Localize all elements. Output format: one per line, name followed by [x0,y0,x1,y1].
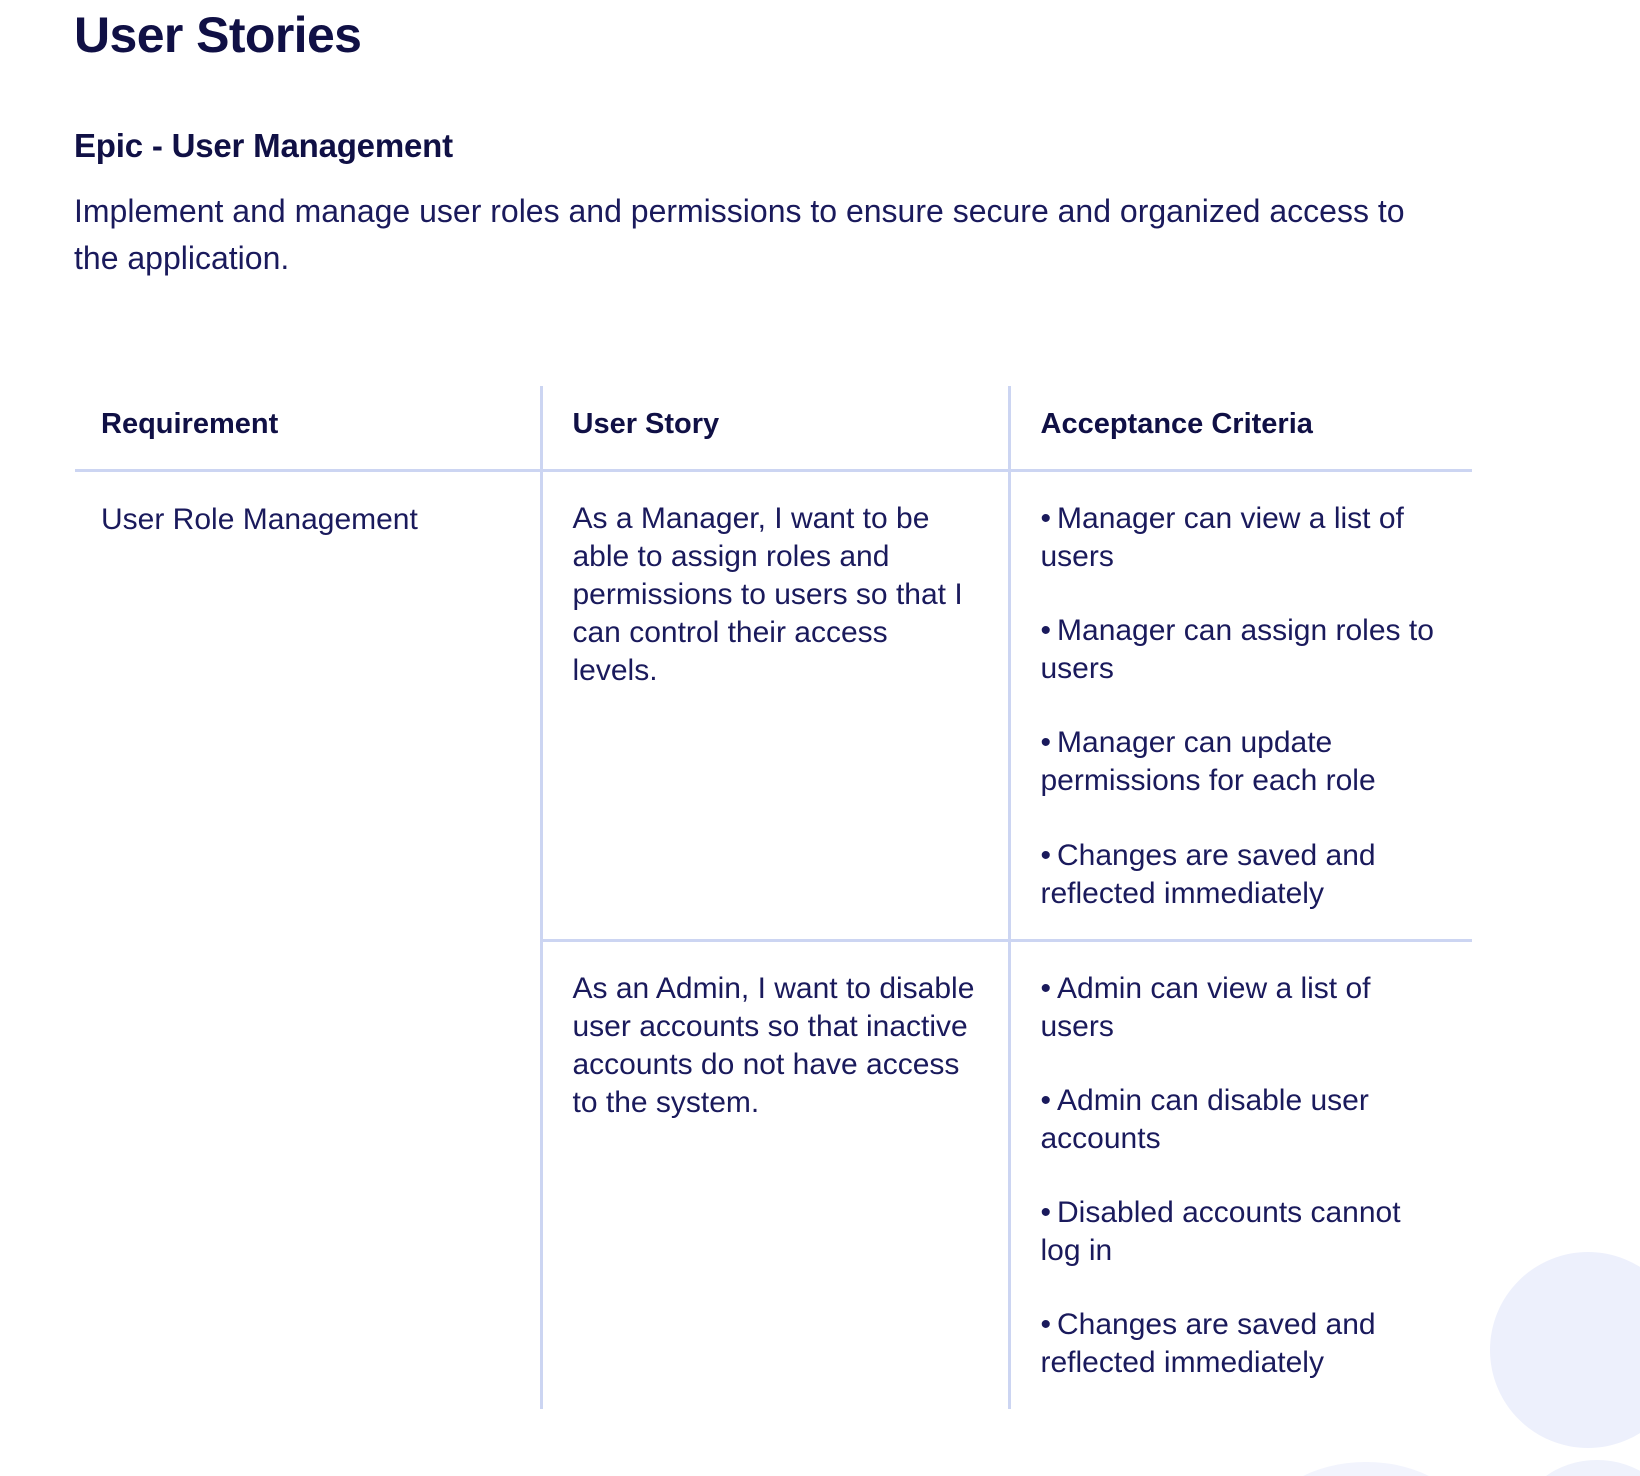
column-header-requirement: Requirement [75,386,541,471]
acceptance-criteria-text: Disabled accounts cannot log in [1041,1196,1401,1267]
column-header-user-story: User Story [541,386,1009,471]
acceptance-criteria-text: Manager can update permissions for each … [1041,726,1376,797]
table-header-row: Requirement User Story Acceptance Criter… [75,386,1472,471]
acceptance-criteria-list: •Admin can view a list of users •Admin c… [1041,970,1443,1383]
bullet-icon: • [1041,1196,1052,1229]
cell-user-story: As a Manager, I want to be able to assig… [541,471,1009,941]
column-header-acceptance-criteria: Acceptance Criteria [1009,386,1472,471]
bullet-icon: • [1041,502,1052,535]
epic-description: Implement and manage user roles and perm… [74,188,1414,282]
acceptance-criteria-text: Admin can view a list of users [1041,972,1371,1043]
page-title: User Stories [74,8,361,63]
acceptance-criteria-item: •Admin can disable user accounts [1041,1082,1443,1158]
acceptance-criteria-item: •Changes are saved and reflected immedia… [1041,1306,1443,1382]
acceptance-criteria-text: Manager can view a list of users [1041,502,1404,573]
cell-acceptance-criteria: •Admin can view a list of users •Admin c… [1009,940,1472,1408]
user-story-text: As an Admin, I want to disable user acco… [573,970,978,1122]
bullet-icon: • [1041,614,1052,647]
acceptance-criteria-text: Admin can disable user accounts [1041,1084,1369,1155]
acceptance-criteria-item: •Manager can update permissions for each… [1041,724,1443,800]
acceptance-criteria-item: •Changes are saved and reflected immedia… [1041,837,1443,913]
table-row: User Role Management As a Manager, I wan… [75,471,1472,941]
epic-heading: Epic - User Management [74,126,453,166]
acceptance-criteria-list: •Manager can view a list of users •Manag… [1041,500,1443,913]
acceptance-criteria-text: Manager can assign roles to users [1041,614,1434,685]
user-story-text: As a Manager, I want to be able to assig… [573,500,978,690]
bullet-icon: • [1041,726,1052,759]
acceptance-criteria-item: •Manager can view a list of users [1041,500,1443,576]
table-header: Requirement User Story Acceptance Criter… [75,386,1472,471]
acceptance-criteria-item: •Disabled accounts cannot log in [1041,1194,1443,1270]
acceptance-criteria-item: •Manager can assign roles to users [1041,612,1443,688]
decorative-blob-bottom-left [1268,1462,1464,1476]
acceptance-criteria-text: Changes are saved and reflected immediat… [1041,1308,1376,1379]
decorative-blob-bottom-right [1522,1460,1640,1476]
acceptance-criteria-text: Changes are saved and reflected immediat… [1041,839,1376,910]
bullet-icon: • [1041,839,1052,872]
cell-acceptance-criteria: •Manager can view a list of users •Manag… [1009,471,1472,941]
bullet-icon: • [1041,1308,1052,1341]
table-body: User Role Management As a Manager, I wan… [75,471,1472,1409]
cell-user-story: As an Admin, I want to disable user acco… [541,940,1009,1408]
bullet-icon: • [1041,1084,1052,1117]
user-stories-table: Requirement User Story Acceptance Criter… [75,386,1472,1409]
bullet-icon: • [1041,972,1052,1005]
decorative-circle-right [1490,1252,1640,1448]
acceptance-criteria-item: •Admin can view a list of users [1041,970,1443,1046]
cell-requirement: User Role Management [75,471,541,1409]
